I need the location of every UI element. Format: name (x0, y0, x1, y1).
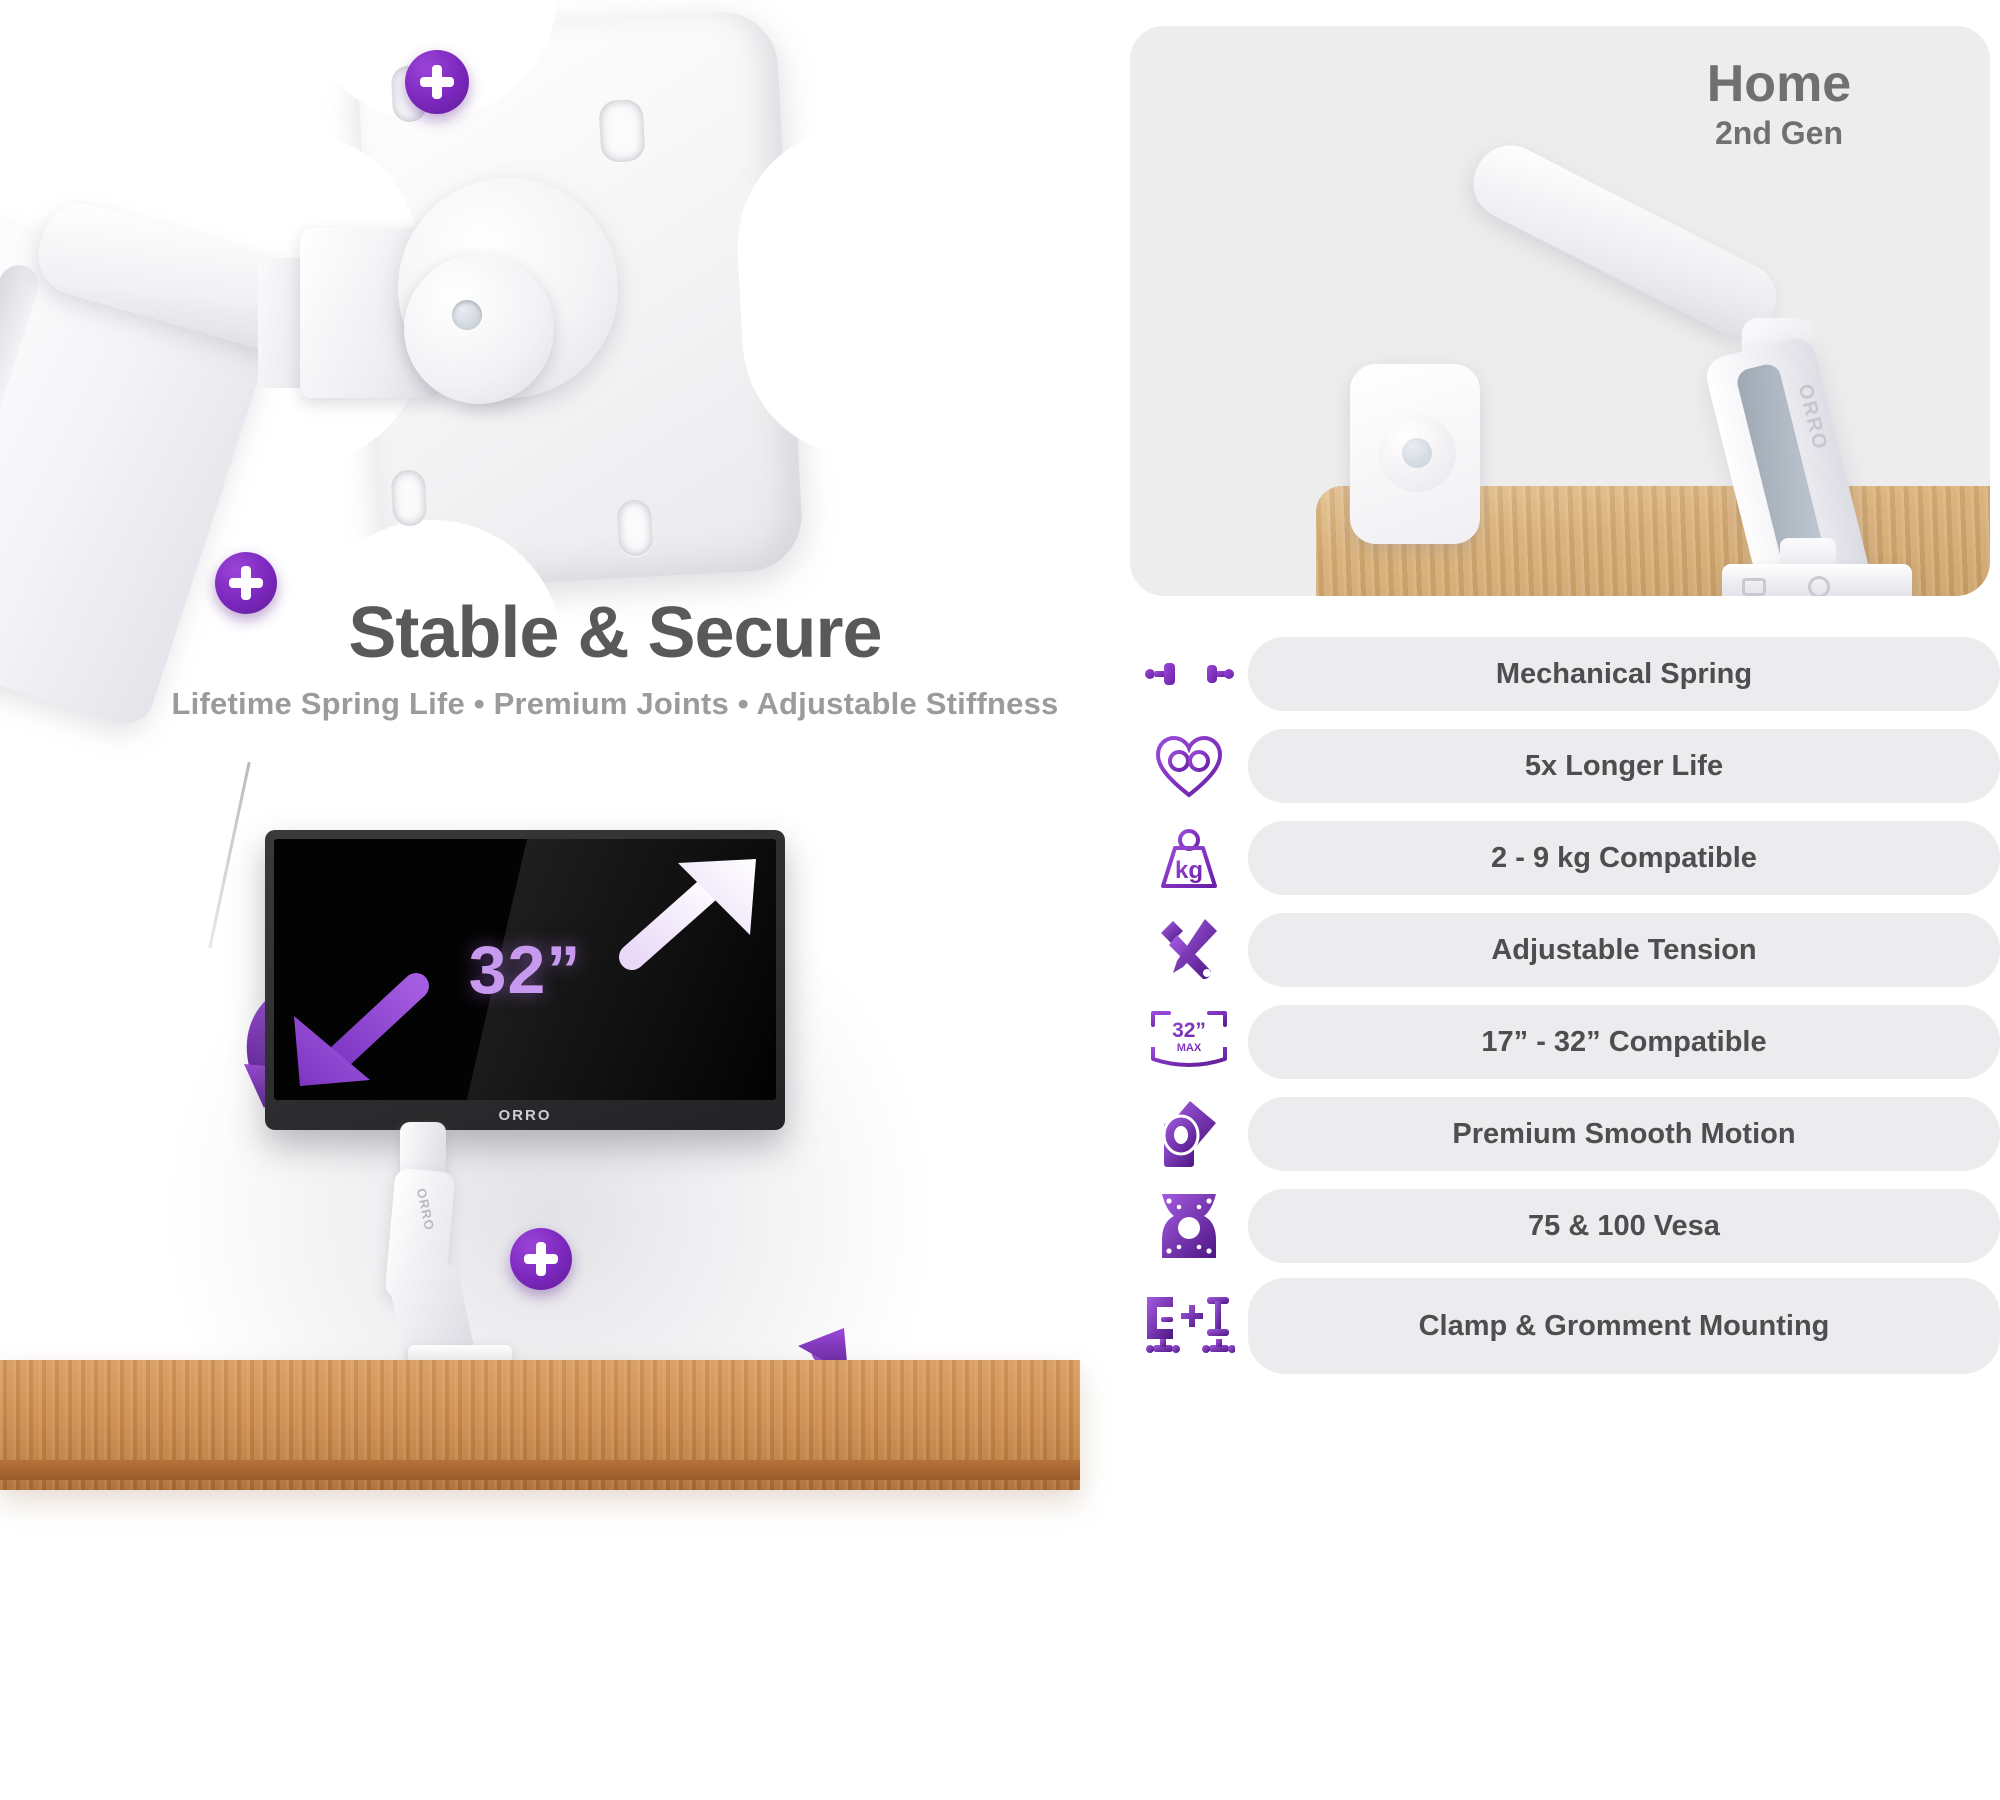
knob-center-dot (452, 300, 482, 330)
vesa-plate-icon (1130, 1190, 1248, 1262)
feature-row: 5x Longer Life (1130, 722, 2000, 810)
rotation-knob (404, 254, 554, 404)
left-feature-panel: Stable & Secure Lifetime Spring Life • P… (0, 0, 1230, 1800)
feature-pill: Mechanical Spring (1248, 637, 2000, 711)
vesa-screw-hole (391, 469, 428, 527)
feature-pill: Clamp & Gromment Mounting (1248, 1278, 2000, 1374)
page-title: Stable & Secure (0, 596, 1230, 672)
feature-row: Adjustable Tension (1130, 906, 2000, 994)
feature-label: Adjustable Tension (1491, 934, 1756, 966)
wrench-screwdriver-icon (1130, 915, 1248, 985)
product-base-knob-icon (1808, 576, 1830, 596)
feature-row: Premium Smooth Motion (1130, 1090, 2000, 1178)
feature-pill: 5x Longer Life (1248, 729, 2000, 803)
infinity-heart-icon (1130, 731, 1248, 801)
feature-label: 75 & 100 Vesa (1528, 1210, 1720, 1242)
clamp-grommet-icon (1130, 1291, 1248, 1361)
feature-label: Mechanical Spring (1496, 658, 1752, 690)
monitor-size-label: 32” (469, 931, 582, 1009)
product-arm-upper (1461, 133, 1789, 349)
feature-label: 2 - 9 kg Compatible (1491, 842, 1757, 874)
brand-logo: ORRO (499, 1107, 552, 1124)
feature-label: 17” - 32” Compatible (1481, 1026, 1766, 1058)
mechanical-spring-icon (1130, 652, 1248, 696)
monitor-screen: 32” (274, 839, 776, 1100)
plus-badge-icon (405, 50, 469, 114)
vesa-screw-hole (617, 499, 654, 557)
feature-list: Mechanical Spring 5x Longer Life (1130, 630, 2000, 1382)
product-base-port-icon (1742, 578, 1766, 596)
vesa-screw-hole (598, 99, 645, 163)
feature-row: Mechanical Spring (1130, 630, 2000, 718)
right-spec-panel: Home 2nd Gen ORRO (1230, 0, 2000, 1800)
plus-badge-icon (510, 1228, 572, 1290)
product-hero-card: Home 2nd Gen ORRO (1130, 26, 1990, 596)
feature-row: Clamp & Gromment Mounting (1130, 1274, 2000, 1378)
desk-edge (0, 1460, 1080, 1480)
product-generation: 2nd Gen (1614, 115, 1944, 152)
weight-icon-text: kg (1175, 857, 1203, 884)
feature-label: Clamp & Gromment Mounting (1419, 1310, 1830, 1342)
page-subtitle: Lifetime Spring Life • Premium Joints • … (0, 686, 1230, 722)
feature-row: 75 & 100 Vesa (1130, 1182, 2000, 1270)
headline-block: Stable & Secure Lifetime Spring Life • P… (0, 596, 1230, 722)
feature-pill: Premium Smooth Motion (1248, 1097, 2000, 1171)
diagonal-arrow-up-right-icon (616, 853, 766, 973)
monitor-size-icon-text: 32” (1172, 1019, 1206, 1042)
product-vesa-dot (1402, 438, 1432, 468)
monitor-size-icon: 32” MAX (1130, 1007, 1248, 1077)
feature-pill: 17” - 32” Compatible (1248, 1005, 2000, 1079)
diagonal-arrow-down-left-icon (284, 972, 434, 1092)
smooth-motion-icon (1130, 1097, 1248, 1171)
feature-pill: Adjustable Tension (1248, 913, 2000, 987)
monitor: 32” ORRO (265, 830, 785, 1130)
feature-pill: 2 - 9 kg Compatible (1248, 821, 2000, 895)
monitor-scene: 32” ORRO ORRO (0, 770, 1230, 1800)
feature-row: kg 2 - 9 kg Compatible (1130, 814, 2000, 902)
feature-label: Premium Smooth Motion (1452, 1118, 1795, 1150)
monitor-size-icon-subtext: MAX (1177, 1042, 1202, 1054)
product-card-titles: Home 2nd Gen (1614, 58, 1944, 152)
feature-pill: 75 & 100 Vesa (1248, 1189, 2000, 1263)
product-name: Home (1614, 58, 1944, 111)
feature-label: 5x Longer Life (1525, 750, 1723, 782)
feature-row: 32” MAX 17” - 32” Compatible (1130, 998, 2000, 1086)
weight-kg-icon: kg (1130, 824, 1248, 892)
